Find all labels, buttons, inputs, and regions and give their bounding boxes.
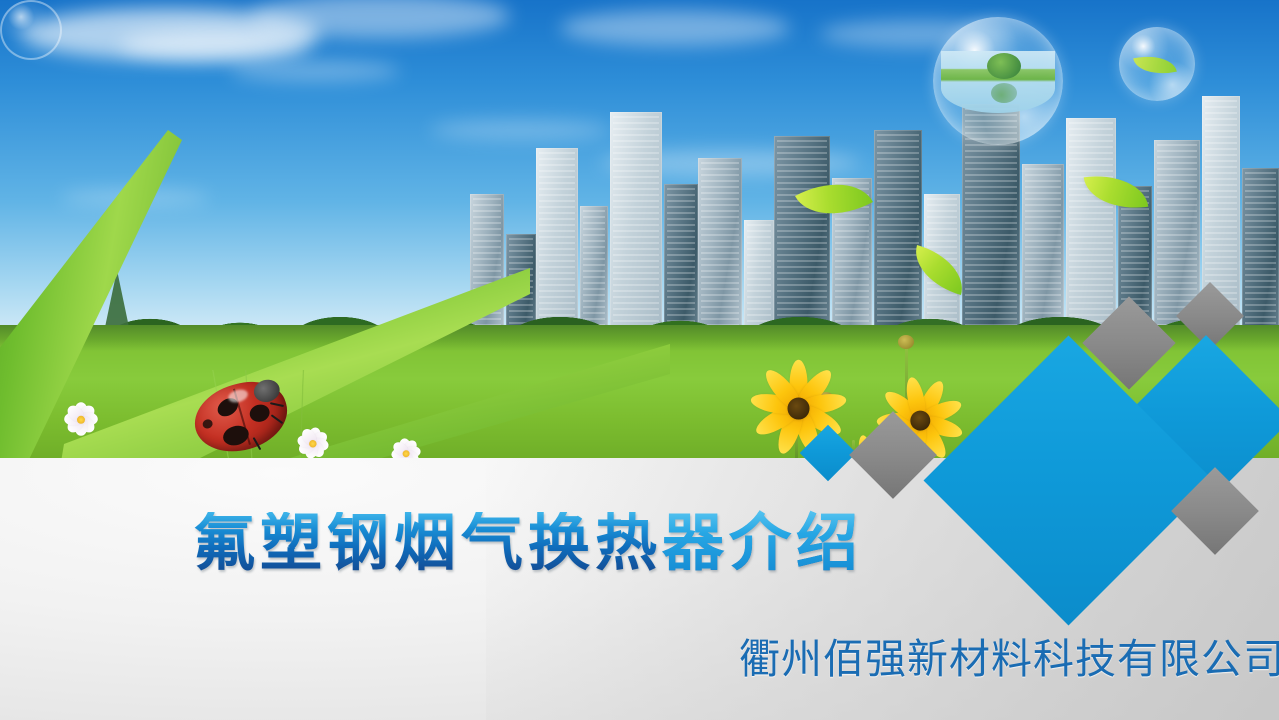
cosmos-flower-icon bbox=[64, 402, 98, 436]
flower-bud bbox=[898, 335, 914, 349]
leaf-icon bbox=[1133, 50, 1177, 80]
page-title: 氟塑钢烟气换热器介绍 bbox=[193, 512, 863, 574]
company-name: 衢州佰强新材料科技有限公司 bbox=[739, 639, 1279, 680]
cosmos-flower-icon bbox=[389, 436, 422, 460]
cloud-shape bbox=[560, 10, 790, 46]
cloud-shape bbox=[120, 30, 310, 60]
bubble-tree-icon bbox=[933, 17, 1063, 145]
bubble-outline-icon bbox=[0, 0, 62, 60]
cosmos-flower-icon bbox=[294, 424, 331, 460]
page-title-head: 氟塑钢烟气换热 bbox=[193, 506, 662, 579]
bubble-landscape bbox=[941, 51, 1055, 113]
page-title-tail: 器介绍 bbox=[662, 506, 863, 579]
bubble-leaf-icon bbox=[1119, 27, 1195, 101]
presentation-slide: 氟塑钢烟气换热器介绍 衢州佰强新材料科技有限公司 bbox=[0, 0, 1279, 720]
cloud-shape bbox=[230, 60, 400, 82]
